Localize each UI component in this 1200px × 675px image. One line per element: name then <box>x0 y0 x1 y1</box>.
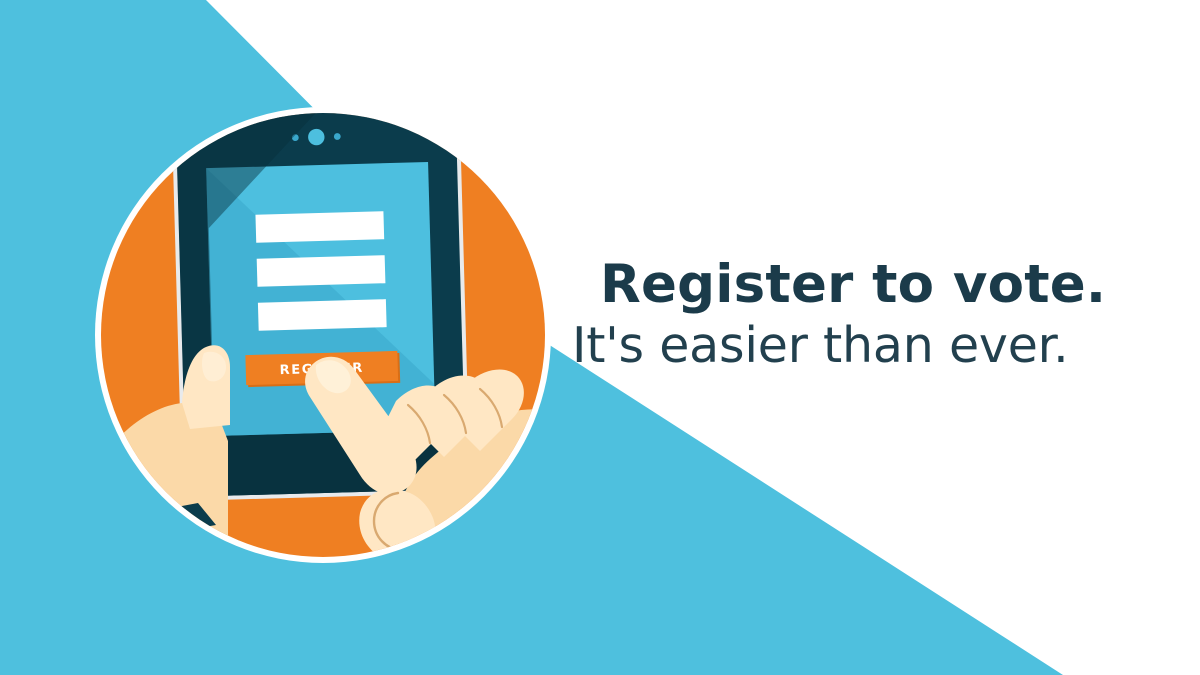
form-field-3[interactable] <box>258 299 387 331</box>
tablet-voter-registration-illustration: REGISTER <box>78 85 568 585</box>
page-title: Register to vote. <box>600 258 1200 311</box>
form-field-2[interactable] <box>257 255 386 287</box>
holding-hand-palm <box>88 403 228 586</box>
form-field-1[interactable] <box>255 211 384 243</box>
headline-block: Register to vote. It's easier than ever. <box>600 258 1200 370</box>
page-subtitle: It's easier than ever. <box>572 321 1200 370</box>
poster-canvas: REGISTER <box>0 0 1200 675</box>
